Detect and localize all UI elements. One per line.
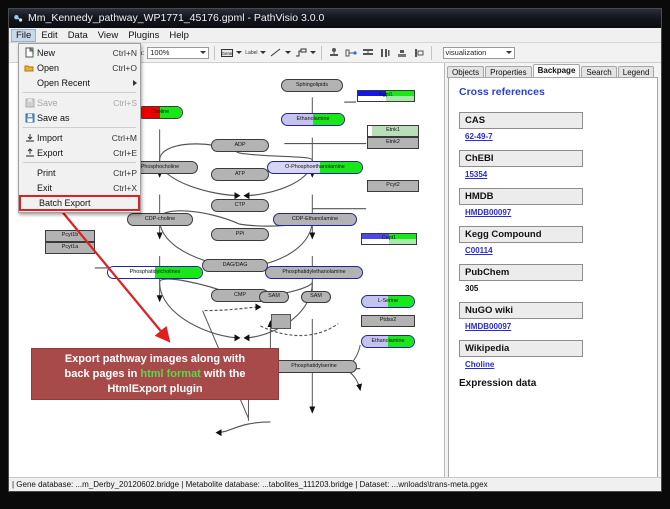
file-menu-item-import[interactable]: Import Ctrl+M [19,130,140,145]
label-tool-label: Label [245,50,257,56]
file-menu-dropdown[interactable]: New Ctrl+N Open Ctrl+O Open Recent Save … [18,43,141,213]
pathway-gene-cept1[interactable]: Cept1 [361,233,417,245]
pathway-node-o-phosphoethanolamine[interactable]: O-Phosphoethanolamine [267,161,363,174]
menu-bar[interactable]: File Edit Data View Plugins Help [9,28,661,43]
pathway-node-phosphatidylserine[interactable]: Phosphatidylserine [271,360,357,373]
title-bar: Mm_Kennedy_pathway_WP1771_45176.gpml - P… [9,9,661,28]
chevron-down-icon [285,51,291,54]
node-label: O-Phosphoethanolamine [285,165,345,170]
expression-data-heading: Expression data [459,378,649,389]
chevron-down-icon [506,51,512,54]
new-file-icon [22,47,37,58]
node-label: Choline [151,110,169,115]
pathway-node-dagdag[interactable]: DAG/DAG [202,259,268,272]
menu-separator [23,92,136,93]
file-menu-label: Import [37,133,108,143]
chevron-down-icon [200,51,206,54]
align-rows-icon[interactable] [361,46,375,60]
file-menu-accel: Ctrl+X [109,183,137,193]
gene-label: Ptdss2 [380,318,396,323]
node-label: SAM [310,294,322,299]
screenshot-root: Mm_Kennedy_pathway_WP1771_45176.gpml - P… [0,0,670,509]
toolbar-separator [431,46,432,60]
export-icon [22,148,37,158]
pathvisio-app-icon [13,13,24,24]
node-label: Sphingolipids [296,83,328,88]
backpage-title: Cross references [459,86,649,98]
line-dropdown-icon[interactable] [269,46,291,60]
node-label: Phosphatidylethanolamine [282,270,345,275]
chevron-down-icon [310,51,316,54]
label-dropdown-icon[interactable]: Label [245,50,265,56]
xref-label-pubchem: PubChem [459,264,583,281]
pathway-gene-pcyt2[interactable]: Pcyt2 [367,180,419,192]
open-folder-icon [22,63,37,73]
side-panel: Objects Properties Backpage Search Legen… [445,63,661,491]
stack-center-icon[interactable] [395,46,409,60]
file-menu-accel: Ctrl+E [109,148,137,158]
callout-highlight: html format [140,368,201,380]
xref-label-kegg-compound: Kegg Compound [459,226,583,243]
callout-line3: HtmlExport plugin [107,383,202,395]
toolbar-separator [214,46,215,60]
chevron-down-icon [236,51,242,54]
xref-label-wikipedia: Wikipedia [459,340,583,357]
xref-label-hmdb: HMDB [459,188,583,205]
menu-data[interactable]: Data [63,29,93,42]
node-label: Ethanolamine [372,339,405,344]
align-left-icon[interactable] [344,46,358,60]
node-label: ATP [235,172,245,177]
svg-text:Gene: Gene [222,51,234,56]
node-label: SAM [268,294,280,299]
save-disk-icon [22,98,37,108]
file-menu-accel: Ctrl+N [109,48,137,58]
node-label: PPi [236,232,244,237]
pathway-gene-pcyt1b[interactable]: Pcyt1b [45,230,95,242]
file-menu-label: Open Recent [37,78,133,88]
pathway-gene-ptdss2[interactable]: Ptdss2 [361,315,415,327]
line-icon [269,46,283,60]
datanode-icon: Gene [220,46,234,60]
node-label: Phosphatidylcholines [130,270,181,275]
application-window: Mm_Kennedy_pathway_WP1771_45176.gpml - P… [8,8,662,492]
visualization-combo[interactable]: visualization [443,47,515,59]
node-label: CDP-Ethanolamine [292,217,338,222]
backpage-panel: Cross references CAS 62-49-7 ChEBI 15354… [448,77,658,488]
pathway-node-atp[interactable]: ATP [211,168,269,181]
node-label: ADP [234,143,245,148]
zoom-combo[interactable]: 100% [147,47,209,59]
node-label: Phosphatidylserine [291,364,337,369]
node-label: CDP-choline [145,217,175,222]
window-title: Mm_Kennedy_pathway_WP1771_45176.gpml - P… [28,9,324,28]
pathway-node-sam-2[interactable]: SAM [301,291,331,303]
pathway-node-phosphatidylcholines[interactable]: Phosphatidylcholines [107,266,203,279]
align-columns-icon[interactable] [378,46,392,60]
visualization-value: visualization [446,48,487,57]
file-menu-item-print[interactable]: Print Ctrl+P [19,165,140,180]
xref-label-cas: CAS [459,112,583,129]
gene-label: Pcyt1b [62,233,78,238]
menu-view[interactable]: View [93,29,123,42]
node-label: Ethanolamine [297,117,330,122]
pathway-node-adp[interactable]: ADP [211,139,269,152]
file-menu-accel: Ctrl+M [108,133,137,143]
node-label: L-Serine [378,299,398,304]
pathway-anchor-box[interactable] [271,314,291,329]
file-menu-label: Save [37,98,109,108]
zoom-value: 100% [150,48,169,57]
node-label: CTP [235,203,246,208]
file-menu-label: Batch Export [39,198,135,208]
file-menu-item-export[interactable]: Export Ctrl+E [19,145,140,160]
file-menu-item-batch-export[interactable]: Batch Export [19,195,140,211]
file-menu-accel: Ctrl+S [109,98,137,108]
file-menu-item-open-recent[interactable]: Open Recent [19,75,140,90]
pathway-node-cdp-ethanolamine[interactable]: CDP-Ethanolamine [273,213,357,226]
pathway-gene-etnk1[interactable]: Etnk1 [367,125,419,137]
status-text: | Gene database: ...m_Derby_20120602.bri… [12,480,488,489]
file-menu-item-exit[interactable]: Exit Ctrl+X [19,180,140,195]
align-top-icon[interactable] [327,46,341,60]
xref-value-chebi[interactable]: 15354 [465,170,649,179]
gene-label: Sgpl1 [379,93,393,98]
callout-line2-pre: back pages in [65,368,141,380]
datanode-dropdown-icon[interactable]: Gene [220,46,242,60]
file-menu-label: New [37,48,109,58]
file-menu-item-save: Save Ctrl+S [19,95,140,110]
menu-help[interactable]: Help [164,29,194,42]
node-label: DAG/DAG [223,263,248,268]
xref-value-cas[interactable]: 62-49-7 [465,132,649,141]
menu-file[interactable]: File [11,29,36,42]
pathway-node-cdp-choline[interactable]: CDP-choline [127,213,193,226]
pathway-node-choline[interactable]: Choline [137,106,183,119]
save-as-icon [22,113,37,123]
file-menu-item-new[interactable]: New Ctrl+N [19,45,140,60]
import-icon [22,133,37,143]
annotation-callout: Export pathway images along with back pa… [31,348,279,400]
pathway-node-ppi[interactable]: PPi [211,228,269,241]
xref-label-nugo-wiki: NuGO wiki [459,302,583,319]
pathway-node-ctp[interactable]: CTP [211,199,269,212]
menu-separator [23,162,136,163]
node-label: Phosphocholine [141,165,179,170]
file-menu-label: Export [37,148,109,158]
file-menu-label: Print [37,168,109,178]
tab-backpage[interactable]: Backpage [533,64,581,77]
pathway-node-sam-1[interactable]: SAM [259,291,289,303]
interaction-dropdown-icon[interactable] [294,46,316,60]
xref-value-kegg-compound[interactable]: C00114 [465,246,649,255]
file-menu-item-save-as[interactable]: Save as [19,110,140,125]
gene-label: Etnk1 [386,128,400,133]
gene-label: Cept1 [382,236,396,241]
node-label: CMP [234,293,246,298]
file-menu-label: Open [37,63,108,73]
menu-plugins[interactable]: Plugins [123,29,164,42]
xref-value-wikipedia[interactable]: Choline [465,360,649,369]
menu-separator [23,127,136,128]
gene-label: Pcyt1a [62,245,78,250]
callout-line2-post: with the [201,368,246,380]
pathway-gene-sgpl1[interactable]: Sgpl1 [357,90,415,102]
xref-value-pubchem: 305 [465,284,649,293]
pathway-node-sphingolipids[interactable]: Sphingolipids [281,79,343,92]
file-menu-accel: Ctrl+O [108,63,137,73]
status-bar: | Gene database: ...m_Derby_20120602.bri… [9,477,661,491]
menu-edit[interactable]: Edit [36,29,62,42]
toolbar-separator [321,46,322,60]
xref-value-nugo-wiki[interactable]: HMDB00097 [465,322,649,331]
file-menu-label: Save as [37,113,133,123]
file-menu-accel: Ctrl+P [109,168,137,178]
callout-line1: Export pathway images along with [65,353,245,365]
file-menu-item-open[interactable]: Open Ctrl+O [19,60,140,75]
pathway-node-phosphatidylethanolamine[interactable]: Phosphatidylethanolamine [265,266,363,279]
pathway-gene-pcyt1a[interactable]: Pcyt1a [45,242,95,254]
gene-label: Pcyt2 [386,183,399,188]
gene-label: Etnk2 [386,140,400,145]
pathway-node-ethanolamine[interactable]: Ethanolamine [281,113,345,126]
chevron-right-icon [133,80,137,86]
pathway-gene-etnk2[interactable]: Etnk2 [367,137,419,149]
pathway-node-ethanolamine-2[interactable]: Ethanolamine [361,335,415,348]
xref-value-hmdb[interactable]: HMDB00097 [465,208,649,217]
backpage-content: Cross references CAS 62-49-7 ChEBI 15354… [449,78,657,487]
xref-label-chebi: ChEBI [459,150,583,167]
chevron-down-icon [260,51,266,54]
stack-left-icon[interactable] [412,46,426,60]
side-panel-tabs[interactable]: Objects Properties Backpage Search Legen… [445,63,661,77]
file-menu-label: Exit [37,183,109,193]
pathway-node-l-serine[interactable]: L-Serine [361,295,415,308]
interaction-icon [294,46,308,60]
